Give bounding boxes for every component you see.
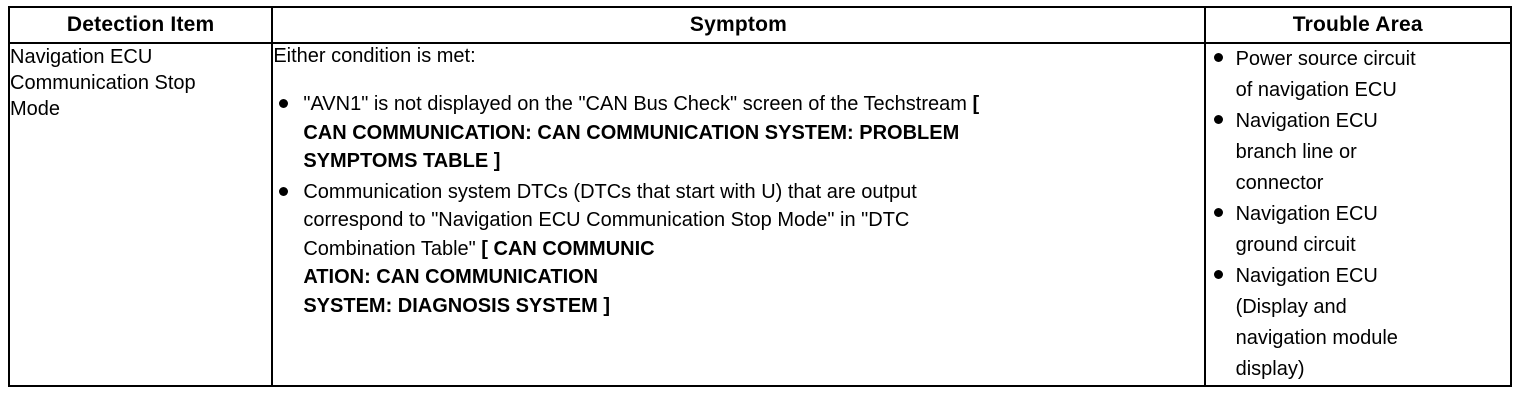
symptom-lead-text: Either condition is met: — [273, 44, 1203, 68]
symptom-line-bold: [ CAN COMMUNIC — [481, 238, 654, 260]
table-header-row: Detection Item Symptom Trouble Area — [9, 7, 1511, 43]
trouble-line: display) — [1236, 354, 1510, 385]
symptom-line: ATION: CAN COMMUNICATION — [303, 263, 1203, 292]
symptom-line-bold: SYMPTOMS TABLE ] — [303, 150, 500, 172]
table-body: Navigation ECU Communication Stop Mode E… — [9, 43, 1511, 386]
column-header-trouble-area: Trouble Area — [1205, 7, 1511, 43]
symptom-bullet-list: "AVN1" is not displayed on the "CAN Bus … — [273, 90, 1203, 320]
bullet-icon — [279, 90, 289, 100]
detection-item-line: Navigation ECU — [10, 44, 271, 70]
list-item: Navigation ECU branch line or connector — [1206, 106, 1510, 199]
trouble-area-bullet-list: Power source circuit of navigation ECU N… — [1206, 44, 1510, 385]
trouble-line: ground circuit — [1236, 230, 1510, 261]
bullet-icon — [1214, 44, 1224, 54]
symptom-line: "AVN1" is not displayed on the "CAN Bus … — [303, 90, 1203, 119]
trouble-line: Navigation ECU — [1236, 199, 1510, 230]
symptom-line: CAN COMMUNICATION: CAN COMMUNICATION SYS… — [303, 119, 1203, 148]
trouble-line: Navigation ECU — [1236, 106, 1510, 137]
trouble-area-bullet-text: Navigation ECU (Display and navigation m… — [1236, 261, 1510, 385]
trouble-area-bullet-text: Navigation ECU ground circuit — [1236, 199, 1510, 261]
table-header: Detection Item Symptom Trouble Area — [9, 7, 1511, 43]
symptom-line-bold: ATION: CAN COMMUNICATION — [303, 266, 598, 288]
symptom-line-normal: correspond to "Navigation ECU Communicat… — [303, 209, 909, 231]
symptom-line-bold: CAN COMMUNICATION: CAN COMMUNICATION SYS… — [303, 122, 959, 144]
detection-item-line: Mode — [10, 96, 271, 122]
symptom-bullet-text: "AVN1" is not displayed on the "CAN Bus … — [303, 90, 1203, 176]
list-item: "AVN1" is not displayed on the "CAN Bus … — [273, 90, 1203, 176]
list-item: Communication system DTCs (DTCs that sta… — [273, 178, 1203, 321]
trouble-line: connector — [1236, 168, 1510, 199]
trouble-line: Power source circuit — [1236, 44, 1510, 75]
bullet-icon — [1214, 261, 1224, 271]
detection-item-text: Navigation ECU Communication Stop Mode — [10, 44, 271, 122]
bullet-icon — [1214, 199, 1224, 209]
list-item: Navigation ECU ground circuit — [1206, 199, 1510, 261]
symptom-line: Communication system DTCs (DTCs that sta… — [303, 178, 1203, 207]
trouble-line: (Display and — [1236, 292, 1510, 323]
symptom-line: Combination Table" [ CAN COMMUNIC — [303, 235, 1203, 264]
symptom-line-normal: Combination Table" — [303, 238, 481, 260]
bullet-icon — [279, 178, 289, 188]
symptom-line: correspond to "Navigation ECU Communicat… — [303, 206, 1203, 235]
cell-trouble-area: Power source circuit of navigation ECU N… — [1205, 43, 1511, 386]
list-item: Power source circuit of navigation ECU — [1206, 44, 1510, 106]
detection-item-line: Communication Stop — [10, 70, 271, 96]
trouble-line: navigation module — [1236, 323, 1510, 354]
cell-detection-item: Navigation ECU Communication Stop Mode — [9, 43, 272, 386]
symptom-line-normal: Communication system DTCs (DTCs that sta… — [303, 181, 917, 203]
cell-symptom: Either condition is met: "AVN1" is not d… — [272, 43, 1204, 386]
symptom-bullet-text: Communication system DTCs (DTCs that sta… — [303, 178, 1203, 321]
symptom-line-bold: SYSTEM: DIAGNOSIS SYSTEM ] — [303, 295, 610, 317]
column-header-symptom: Symptom — [272, 7, 1204, 43]
trouble-area-bullet-text: Navigation ECU branch line or connector — [1236, 106, 1510, 199]
list-item: Navigation ECU (Display and navigation m… — [1206, 261, 1510, 385]
trouble-area-bullet-text: Power source circuit of navigation ECU — [1236, 44, 1510, 106]
table-row: Navigation ECU Communication Stop Mode E… — [9, 43, 1511, 386]
symptom-line: SYMPTOMS TABLE ] — [303, 147, 1203, 176]
trouble-line: of navigation ECU — [1236, 75, 1510, 106]
detection-item-table: Detection Item Symptom Trouble Area Navi… — [8, 6, 1512, 387]
trouble-line: Navigation ECU — [1236, 261, 1510, 292]
symptom-line: SYSTEM: DIAGNOSIS SYSTEM ] — [303, 292, 1203, 321]
document-page: Detection Item Symptom Trouble Area Navi… — [0, 0, 1520, 406]
bullet-icon — [1214, 106, 1224, 116]
trouble-line: branch line or — [1236, 137, 1510, 168]
symptom-line-normal: "AVN1" is not displayed on the "CAN Bus … — [303, 93, 972, 115]
symptom-line-bold: [ — [972, 93, 979, 115]
column-header-detection-item: Detection Item — [9, 7, 272, 43]
